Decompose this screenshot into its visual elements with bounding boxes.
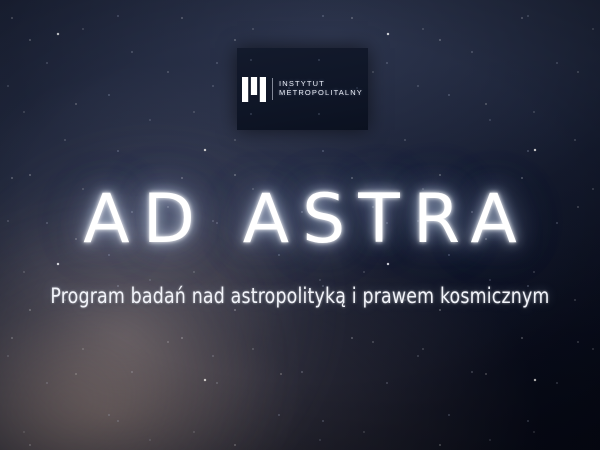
logo-divider bbox=[272, 78, 273, 100]
logo-lockup: INSTYTUT METROPOLITALNY bbox=[242, 77, 363, 102]
page-title: AD ASTRA bbox=[0, 186, 600, 254]
logo-name-line-2: METROPOLITALNY bbox=[279, 89, 363, 98]
instytut-metropolitalny-mark-icon bbox=[242, 77, 266, 102]
poster-canvas: INSTYTUT METROPOLITALNY AD ASTRA Program… bbox=[0, 0, 600, 450]
page-subtitle: Program badań nad astropolityką i prawem… bbox=[24, 284, 576, 308]
logo-plate: INSTYTUT METROPOLITALNY bbox=[237, 48, 368, 130]
logo-wordmark: INSTYTUT METROPOLITALNY bbox=[279, 80, 363, 98]
